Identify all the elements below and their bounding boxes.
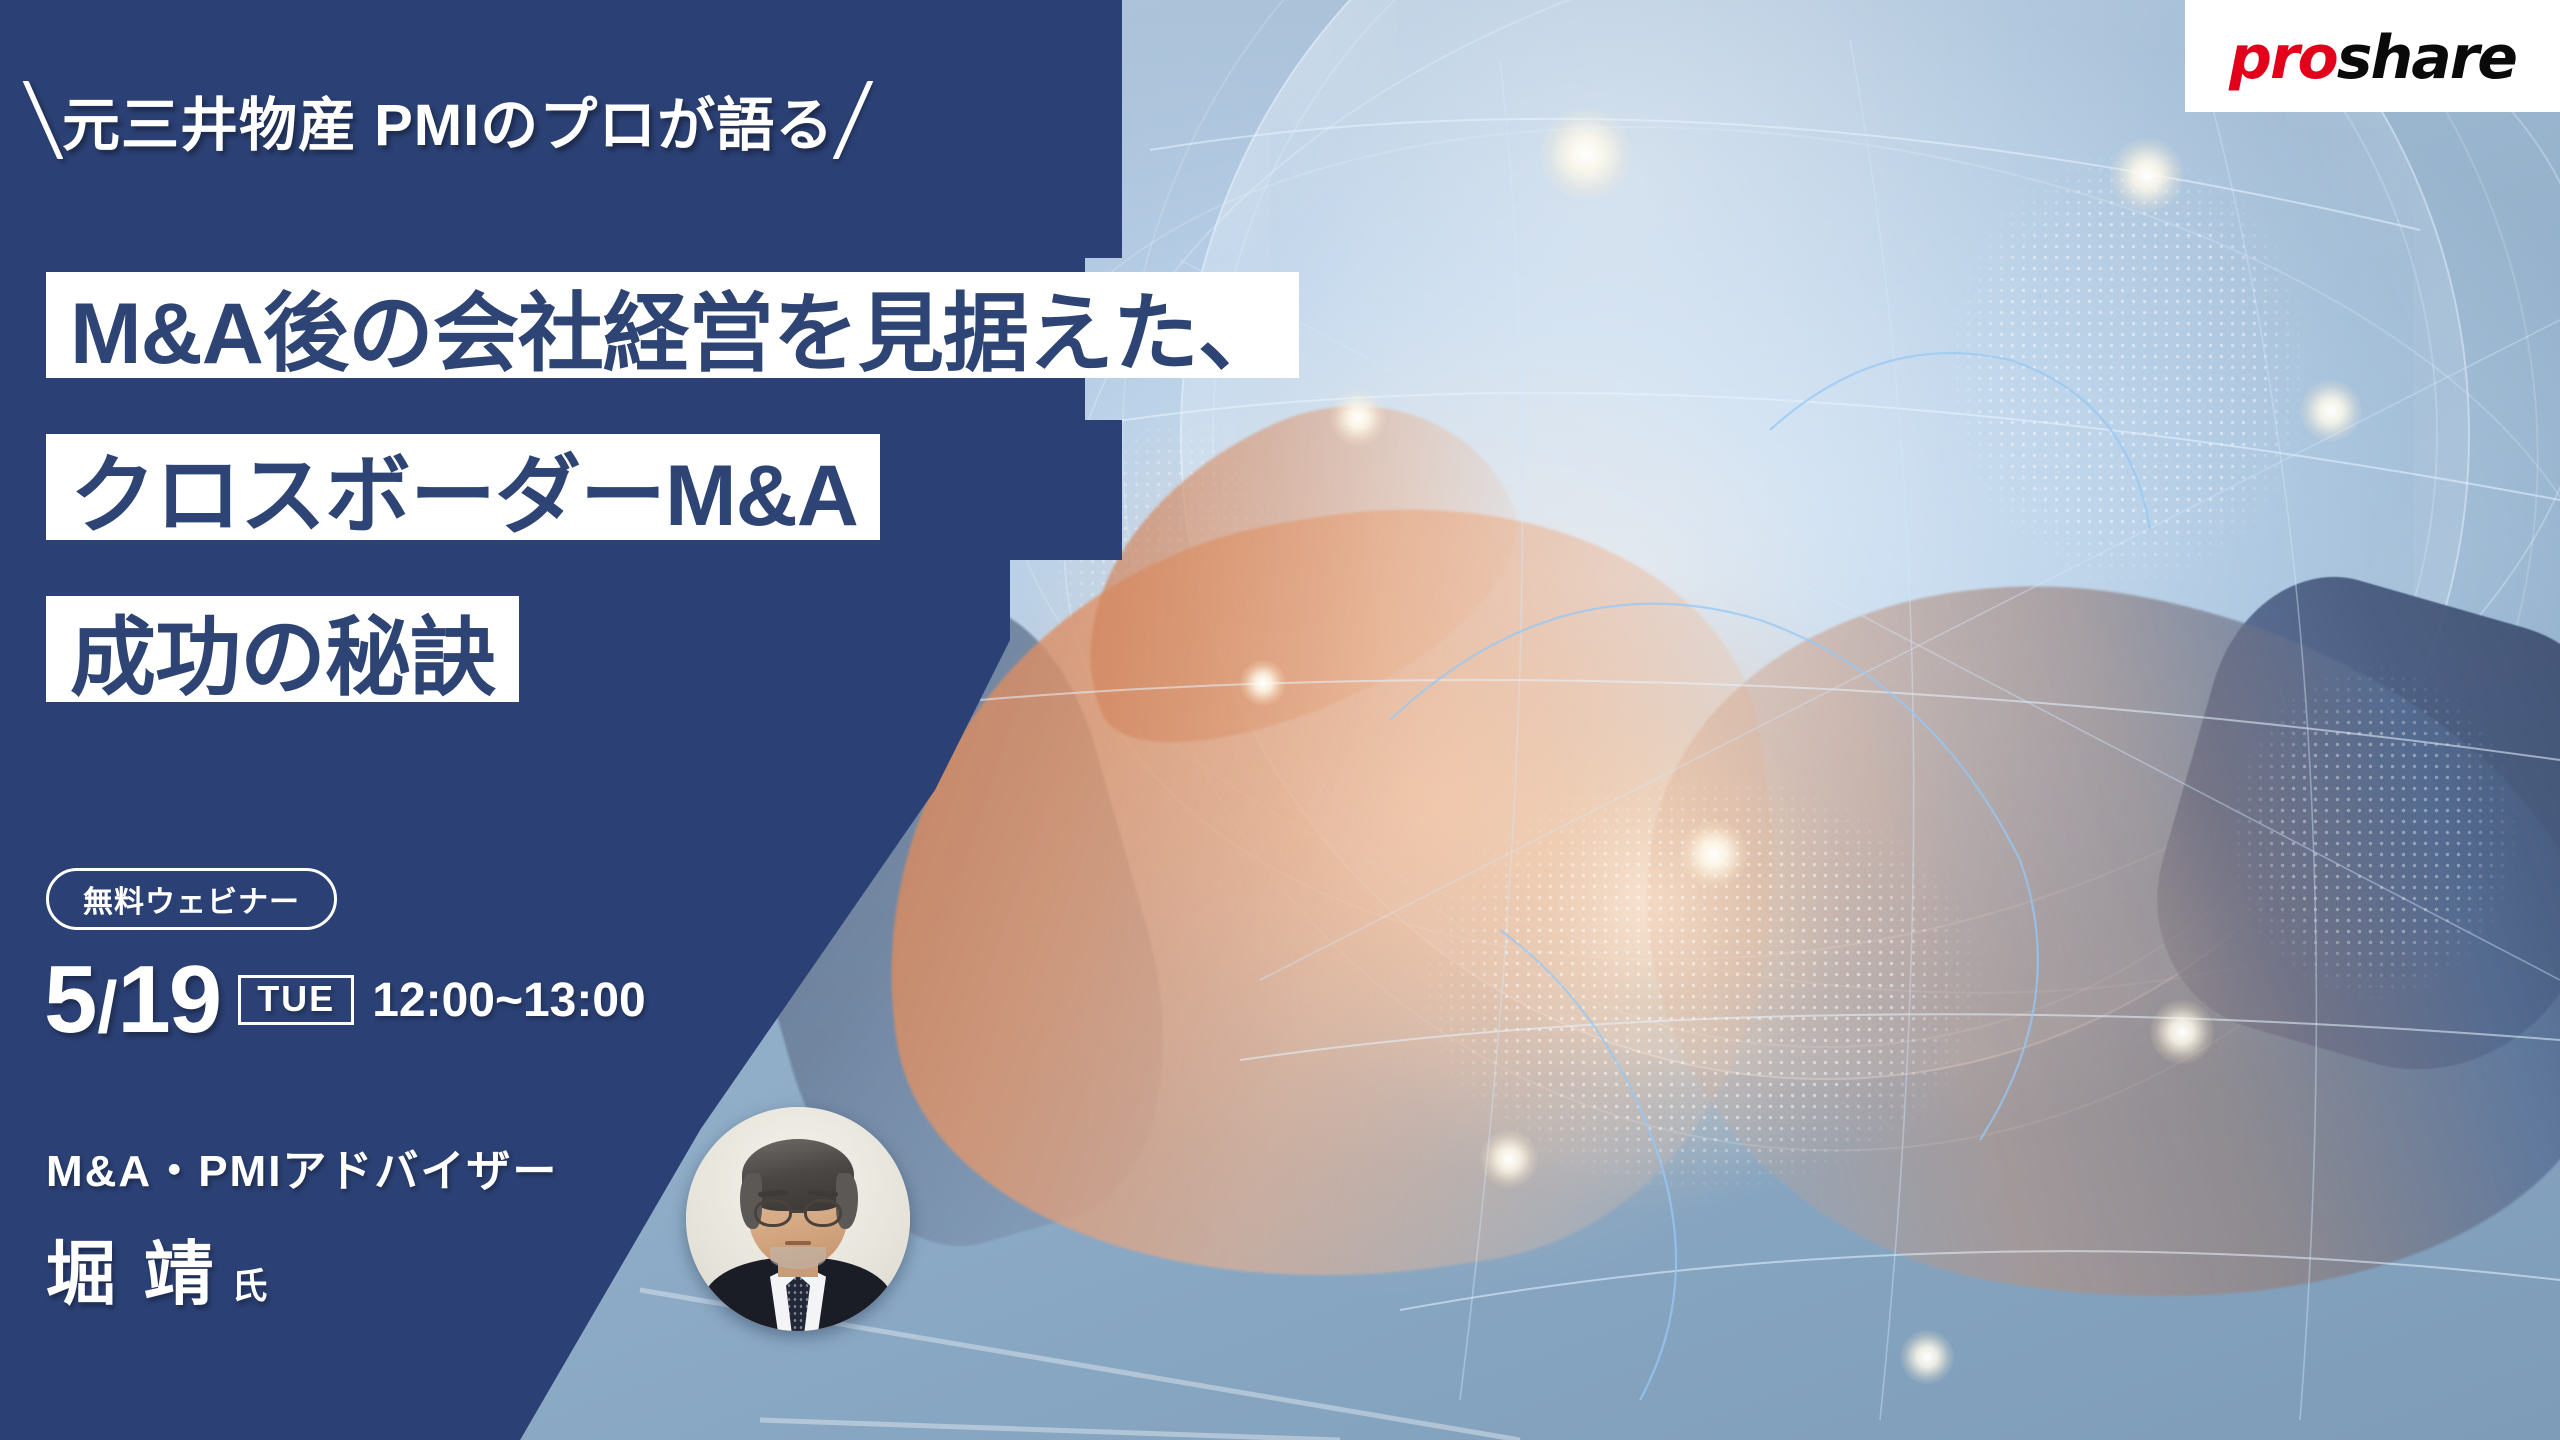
- network-node: [1330, 390, 1386, 446]
- date-separator: /: [97, 972, 115, 1044]
- speaker-avatar: [686, 1107, 910, 1331]
- event-date: 5 / 19: [44, 952, 220, 1048]
- network-node: [2110, 138, 2184, 212]
- network-node: [1480, 1130, 1538, 1188]
- logo-text-pro: pro: [2229, 23, 2337, 93]
- webinar-banner: proshare 元三井物産 PMIのプロが語る M&A後の会社経営を見据えた、…: [0, 0, 2560, 1440]
- network-node: [1240, 660, 1286, 706]
- title-line-3-text: 成功の秘訣: [70, 587, 495, 712]
- day-of-week-badge: TUE: [238, 975, 354, 1025]
- avatar-mouth: [785, 1241, 811, 1245]
- network-node: [2150, 1000, 2214, 1064]
- free-webinar-badge: 無料ウェビナー: [46, 868, 337, 930]
- date-row: 5 / 19 TUE 12:00~13:00: [44, 952, 646, 1048]
- logo-wordmark: proshare: [2229, 28, 2516, 88]
- network-node: [1900, 1330, 1954, 1384]
- free-webinar-badge-label: 無料ウェビナー: [83, 877, 300, 921]
- event-time: 12:00~13:00: [372, 973, 646, 1028]
- title-line-3: 成功の秘訣: [46, 596, 519, 702]
- network-node: [1680, 820, 1748, 888]
- speaker-name: 堀 靖: [46, 1218, 217, 1319]
- title-line-2-text: クロスボーダーM&A: [70, 425, 858, 550]
- speaker-name-row: 堀 靖 氏: [46, 1218, 267, 1319]
- event-day: 19: [117, 952, 220, 1048]
- avatar-glasses-right: [804, 1199, 842, 1227]
- proshare-logo[interactable]: proshare: [2185, 0, 2560, 112]
- network-node: [2300, 380, 2362, 442]
- network-node: [1540, 108, 1632, 200]
- avatar-glasses-bridge: [791, 1210, 805, 1213]
- kicker-text: 元三井物産 PMIのプロが語る: [62, 78, 834, 162]
- title-line-1-text: M&A後の会社経営を見据えた、: [70, 263, 1283, 388]
- title-line-2: クロスボーダーM&A: [46, 434, 880, 540]
- logo-text-share: share: [2337, 23, 2516, 93]
- avatar-glasses-left: [754, 1199, 792, 1227]
- event-month: 5: [44, 952, 95, 1048]
- kicker-row: 元三井物産 PMIのプロが語る: [40, 78, 1120, 162]
- speaker-honorific: 氏: [231, 1257, 267, 1309]
- title-line-1: M&A後の会社経営を見据えた、: [46, 272, 1299, 378]
- avatar-beard: [770, 1247, 826, 1269]
- speaker-role: M&A・PMIアドバイザー: [46, 1135, 558, 1199]
- slash-right-icon: [833, 81, 874, 159]
